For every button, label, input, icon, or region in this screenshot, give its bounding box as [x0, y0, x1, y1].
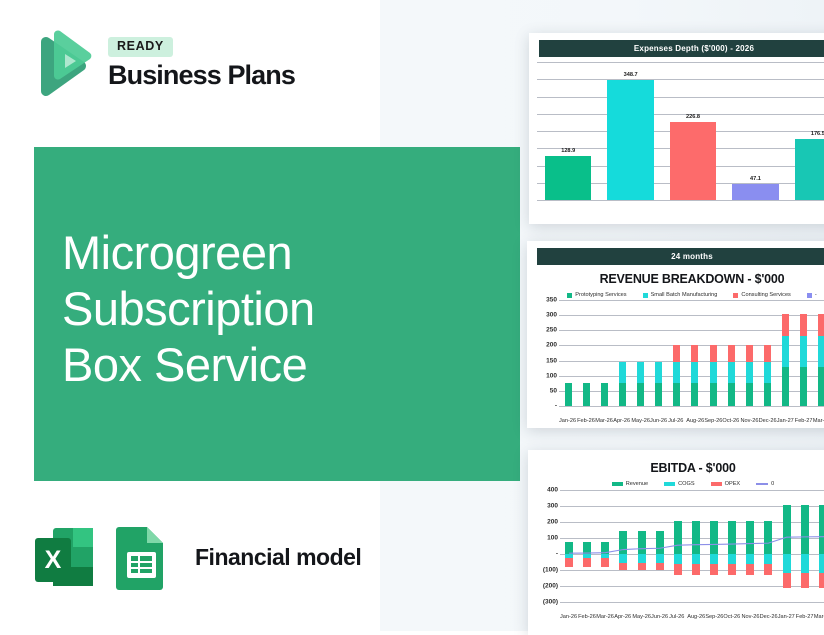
expenses-bar: [607, 80, 653, 200]
revenue-bar-segment: [583, 383, 590, 406]
revenue-bars: [559, 300, 824, 406]
revenue-stacked-bar: [655, 362, 662, 406]
x-axis-tick-label: Mar-26: [596, 614, 614, 620]
y-axis-tick-label: 300: [547, 503, 558, 510]
hero-title-line-3: Box Service: [62, 337, 315, 393]
x-axis-tick-label: Aug-26: [686, 418, 704, 424]
legend-label: COGS: [678, 481, 694, 487]
expenses-bar-group: 128.9: [545, 62, 591, 200]
x-axis-tick-label: Jan-26: [560, 614, 577, 620]
x-axis-tick: Jan-26: [560, 605, 578, 625]
revenue-bar-segment: [673, 345, 680, 363]
revenue-stacked-bar: [619, 362, 626, 406]
revenue-stacked-bar: [601, 383, 608, 406]
expenses-bar-value-label: 128.9: [561, 148, 575, 154]
hero-title-line-1: Microgreen: [62, 225, 315, 281]
brand-text-block: READY Business Plans: [108, 37, 295, 89]
gridline: [537, 200, 824, 201]
ebitda-chart-title: EBITDA - $'000: [528, 461, 824, 475]
brand-lockup: READY Business Plans: [28, 28, 295, 98]
x-axis-tick: Jul-26: [668, 409, 686, 428]
revenue-bar-segment: [619, 362, 626, 383]
expenses-chart-title: Expenses Depth ($'000) - 2026: [539, 40, 824, 57]
revenue-bar-segment: [710, 362, 717, 383]
revenue-bar-segment: [691, 345, 698, 363]
expenses-bar-group: 176.5: [795, 62, 824, 200]
legend-label: Revenue: [626, 481, 648, 487]
svg-text:X: X: [45, 546, 62, 574]
x-axis-tick: Jan-27: [778, 605, 796, 625]
x-axis-tick: Dec-26: [760, 605, 778, 625]
legend-item: Prototyping Services: [567, 292, 626, 298]
legend-item: Revenue: [612, 481, 648, 487]
x-axis-tick-label: Jul-26: [669, 614, 684, 620]
revenue-bar-segment: [800, 314, 807, 336]
revenue-bar-segment: [673, 362, 680, 383]
revenue-stacked-bar: [565, 383, 572, 406]
x-axis-tick-label: Apr-26: [614, 614, 631, 620]
y-axis-tick-label: 200: [547, 519, 558, 526]
revenue-bar-segment: [691, 362, 698, 383]
legend-swatch: [612, 482, 623, 486]
revenue-bar-segment: [691, 383, 698, 406]
x-axis-tick-label: Dec-26: [760, 614, 778, 620]
expenses-bars: 128.9348.7226.847.1176.5: [537, 62, 824, 200]
expenses-bar: [732, 184, 778, 200]
y-axis-tick-label: 350: [546, 297, 557, 304]
ebitda-plot-area: 400300200100-(100)(200)(300): [534, 490, 824, 602]
revenue-bar-segment: [637, 383, 644, 406]
x-axis-tick-label: Mar-27: [813, 418, 824, 424]
financial-model-label: Financial model: [195, 544, 361, 571]
revenue-stacked-bar: [583, 383, 590, 406]
x-axis-tick-label: Feb-26: [577, 418, 595, 424]
x-axis-tick: Mar-27: [813, 409, 824, 428]
revenue-bar-segment: [746, 362, 753, 383]
revenue-y-axis: 35030025020015010050-: [533, 300, 559, 406]
legend-label: 0: [771, 481, 774, 487]
x-axis-tick: Nov-26: [742, 605, 760, 625]
y-axis-tick-label: 100: [546, 372, 557, 379]
google-sheets-icon: [113, 524, 171, 590]
microsoft-excel-icon: X: [33, 524, 95, 590]
revenue-bar-segment: [746, 383, 753, 406]
expenses-bar-value-label: 176.5: [811, 131, 824, 137]
y-axis-tick-label: 150: [546, 357, 557, 364]
y-axis-tick-label: -: [555, 403, 557, 410]
revenue-bar-segment: [764, 383, 771, 406]
x-axis-tick-label: Apr-26: [613, 418, 630, 424]
legend-label: Prototyping Services: [575, 292, 626, 298]
expenses-bar-group: 226.8: [670, 62, 716, 200]
file-format-footer: X Financial model: [33, 524, 361, 590]
legend-label: OPEX: [725, 481, 741, 487]
ebitda-legend: RevenueCOGSOPEX0: [528, 481, 824, 487]
gridline: [560, 602, 824, 603]
legend-swatch: [733, 293, 738, 298]
y-axis-tick-label: 400: [547, 487, 558, 494]
x-axis-tick: Jun-26: [650, 409, 668, 428]
legend-swatch: [567, 293, 572, 298]
revenue-bar-segment: [764, 362, 771, 383]
legend-item: 0: [756, 481, 774, 487]
revenue-bar-segment: [764, 345, 771, 363]
legend-swatch: [756, 483, 768, 485]
x-axis-tick-label: Mar-26: [595, 418, 613, 424]
revenue-bar-segment: [818, 367, 824, 406]
x-axis-tick-label: Mar-27: [814, 614, 824, 620]
y-axis-tick-label: -: [556, 551, 558, 558]
revenue-bar-segment: [800, 367, 807, 406]
x-axis-tick-label: Jun-26: [651, 614, 668, 620]
x-axis-tick: Sep-26: [705, 605, 723, 625]
revenue-stacked-bar: [800, 314, 807, 406]
x-axis-tick-label: Feb-27: [796, 614, 814, 620]
revenue-bar-segment: [655, 383, 662, 406]
revenue-bar-segment: [673, 383, 680, 406]
x-axis-tick-label: Feb-26: [578, 614, 596, 620]
hero-banner: Microgreen Subscription Box Service: [34, 147, 520, 481]
x-axis-tick: Apr-26: [613, 409, 631, 428]
x-axis-tick: Jun-26: [651, 605, 669, 625]
x-axis-tick: Nov-26: [741, 409, 759, 428]
x-axis-tick: Feb-26: [578, 605, 596, 625]
ready-badge: READY: [108, 37, 173, 57]
revenue-period-band: 24 months: [537, 248, 824, 265]
brand-name: Business Plans: [108, 62, 295, 89]
legend-swatch: [664, 482, 675, 486]
x-axis-tick-label: Jul-26: [668, 418, 683, 424]
y-axis-tick-label: (200): [543, 583, 558, 590]
ebitda-zero-line-series: [560, 490, 824, 602]
expenses-bar-group: 348.7: [607, 62, 653, 200]
revenue-stacked-bar: [764, 345, 771, 406]
x-axis-tick: Feb-26: [577, 409, 595, 428]
x-axis-tick: Dec-26: [759, 409, 777, 428]
x-axis-tick: Sep-26: [704, 409, 722, 428]
x-axis-tick: Jan-27: [777, 409, 795, 428]
revenue-stacked-bar: [746, 345, 753, 406]
revenue-stacked-bar: [818, 314, 824, 406]
x-axis-tick: Oct-26: [723, 605, 741, 625]
chart-card-revenue-breakdown: 24 months REVENUE BREAKDOWN - $'000 Prot…: [527, 241, 824, 428]
revenue-stacked-bar: [673, 345, 680, 406]
legend-item: Small Batch Manufacturing: [643, 292, 718, 298]
chart-card-ebitda: EBITDA - $'000 RevenueCOGSOPEX0 40030020…: [528, 450, 824, 635]
revenue-bar-segment: [710, 383, 717, 406]
revenue-chart-title: REVENUE BREAKDOWN - $'000: [527, 272, 824, 286]
legend-label: Consulting Services: [741, 292, 790, 298]
legend-swatch: [643, 293, 648, 298]
legend-swatch: [711, 482, 722, 486]
revenue-x-axis: Jan-26Feb-26Mar-26Apr-26May-26Jun-26Jul-…: [559, 409, 824, 428]
expenses-bar-value-label: 226.8: [686, 114, 700, 120]
revenue-stacked-bar: [710, 345, 717, 406]
x-axis-tick: Oct-26: [722, 409, 740, 428]
revenue-bar-segment: [782, 314, 789, 336]
legend-item: COGS: [664, 481, 694, 487]
legend-label: Small Batch Manufacturing: [651, 292, 718, 298]
x-axis-tick-label: Dec-26: [759, 418, 777, 424]
x-axis-tick-label: Jun-26: [650, 418, 667, 424]
x-axis-tick-label: Nov-26: [742, 614, 760, 620]
revenue-bar-segment: [637, 362, 644, 383]
x-axis-tick: Aug-26: [686, 409, 704, 428]
legend-item: Consulting Services: [733, 292, 790, 298]
x-axis-tick: Apr-26: [614, 605, 632, 625]
x-axis-tick-label: Aug-26: [687, 614, 705, 620]
ebitda-x-axis: Jan-26Feb-26Mar-26Apr-26May-26Jun-26Jul-…: [560, 605, 824, 625]
revenue-stacked-bar: [782, 314, 789, 406]
x-axis-tick-label: Sep-26: [704, 418, 722, 424]
x-axis-tick: Mar-26: [596, 605, 614, 625]
expenses-bar-value-label: 47.1: [750, 176, 761, 182]
x-axis-tick-label: Oct-26: [722, 418, 739, 424]
revenue-plot-area: 35030025020015010050-: [533, 300, 824, 406]
hero-title: Microgreen Subscription Box Service: [62, 225, 315, 393]
x-axis-tick: Jul-26: [669, 605, 687, 625]
x-axis-tick: Mar-27: [814, 605, 824, 625]
revenue-stacked-bar: [637, 362, 644, 406]
x-axis-tick-label: Nov-26: [741, 418, 759, 424]
expenses-bar: [670, 122, 716, 200]
revenue-bar-segment: [728, 383, 735, 406]
x-axis-tick: Feb-27: [796, 605, 814, 625]
revenue-bar-segment: [800, 336, 807, 367]
x-axis-tick-label: Feb-27: [795, 418, 813, 424]
expenses-bar: [795, 139, 824, 200]
x-axis-tick: May-26: [631, 409, 650, 428]
revenue-bar-segment: [565, 383, 572, 406]
revenue-bar-segment: [728, 362, 735, 383]
legend-label: -: [815, 292, 817, 298]
revenue-stacked-bar: [728, 345, 735, 406]
revenue-bar-segment: [728, 345, 735, 363]
x-axis-tick: Mar-26: [595, 409, 613, 428]
x-axis-tick-label: Sep-26: [705, 614, 723, 620]
revenue-bar-segment: [818, 314, 824, 336]
x-axis-tick: May-26: [632, 605, 651, 625]
revenue-bar-segment: [710, 345, 717, 363]
x-axis-tick-label: Jan-27: [778, 614, 795, 620]
x-axis-tick-label: May-26: [631, 418, 650, 424]
revenue-stacked-bar: [691, 345, 698, 406]
revenue-bar-segment: [619, 383, 626, 406]
revenue-bar-segment: [818, 336, 824, 367]
revenue-bar-segment: [782, 367, 789, 406]
y-axis-tick-label: 100: [547, 535, 558, 542]
play-triangles-logo-icon: [28, 28, 94, 98]
x-axis-tick-label: May-26: [632, 614, 651, 620]
y-axis-tick-label: 250: [546, 327, 557, 334]
x-axis-tick-label: Jan-26: [559, 418, 576, 424]
x-axis-tick: Jan-26: [559, 409, 577, 428]
revenue-bar-segment: [655, 362, 662, 383]
legend-swatch: [807, 293, 812, 298]
x-axis-tick: Aug-26: [687, 605, 705, 625]
legend-item: -: [807, 292, 817, 298]
revenue-bar-segment: [746, 345, 753, 363]
y-axis-tick-label: 200: [546, 342, 557, 349]
revenue-bar-segment: [601, 383, 608, 406]
revenue-legend: Prototyping ServicesSmall Batch Manufact…: [527, 292, 824, 298]
revenue-bar-segment: [782, 336, 789, 367]
y-axis-tick-label: (300): [543, 599, 558, 606]
y-axis-tick-label: 50: [550, 387, 557, 394]
x-axis-tick-label: Oct-26: [723, 614, 740, 620]
y-axis-tick-label: (100): [543, 567, 558, 574]
x-axis-tick: Feb-27: [795, 409, 813, 428]
expenses-bar-group: 47.1: [732, 62, 778, 200]
expenses-bar-value-label: 348.7: [624, 72, 638, 78]
expenses-plot-area: 128.9348.7226.847.1176.5: [537, 62, 824, 200]
gridline: [559, 406, 824, 407]
chart-card-expenses: Expenses Depth ($'000) - 2026 128.9348.7…: [529, 33, 824, 224]
ebitda-y-axis: 400300200100-(100)(200)(300): [534, 490, 560, 602]
x-axis-tick-label: Jan-27: [777, 418, 794, 424]
hero-title-line-2: Subscription: [62, 281, 315, 337]
expenses-bar: [545, 156, 591, 200]
legend-item: OPEX: [711, 481, 741, 487]
y-axis-tick-label: 300: [546, 312, 557, 319]
